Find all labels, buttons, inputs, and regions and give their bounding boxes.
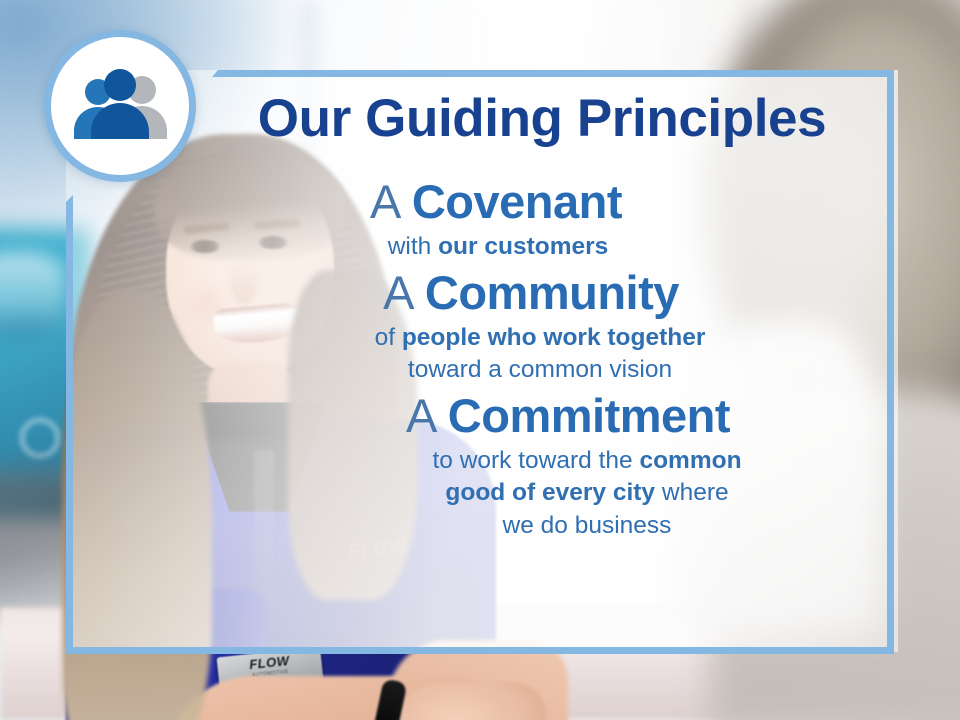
- tenet-commitment: A Commitment to work toward the commongo…: [214, 390, 886, 542]
- tenet-covenant: A Covenant with our customers: [214, 176, 886, 263]
- tenet-heading: A Commitment: [214, 390, 886, 443]
- tenet-heading: A Community: [214, 267, 886, 320]
- tenet-keyword: Covenant: [412, 175, 622, 228]
- tenet-keyword: Community: [425, 266, 679, 319]
- guiding-principles-graphic: FLOW FLOW AUTOMOTIVE: [0, 0, 960, 720]
- tenet-body: to work toward the commongood of every c…: [214, 445, 886, 542]
- tenet-article: A: [406, 389, 435, 442]
- tenet-heading: A Covenant: [214, 176, 886, 229]
- tenet-body-line: toward a common vision: [214, 354, 866, 386]
- tenet-article: A: [370, 175, 399, 228]
- tenet-body-line: with our customers: [214, 231, 782, 263]
- people-group-icon: [68, 68, 172, 144]
- tenet-body-line: of people who work together: [214, 322, 866, 354]
- tenet-body-line: to work toward the common: [288, 445, 886, 477]
- employee-clasped-hands: [396, 682, 546, 720]
- tenet-keyword: Commitment: [448, 389, 730, 442]
- tenet-community: A Community of people who work togethert…: [214, 267, 886, 386]
- page-title: Our Guiding Principles: [212, 92, 872, 146]
- people-group-badge: [44, 30, 196, 182]
- tenet-body: of people who work togethertoward a comm…: [214, 322, 886, 387]
- blurred-screen-logo: [20, 418, 60, 458]
- tenet-body: with our customers: [214, 231, 886, 263]
- tenet-article: A: [383, 266, 412, 319]
- tenet-body-line: good of every city where: [288, 477, 886, 509]
- tenet-body-line: we do business: [288, 510, 886, 542]
- blurred-screen-vehicle: [0, 252, 66, 338]
- tenets-list: A Covenant with our customers A Communit…: [214, 176, 886, 542]
